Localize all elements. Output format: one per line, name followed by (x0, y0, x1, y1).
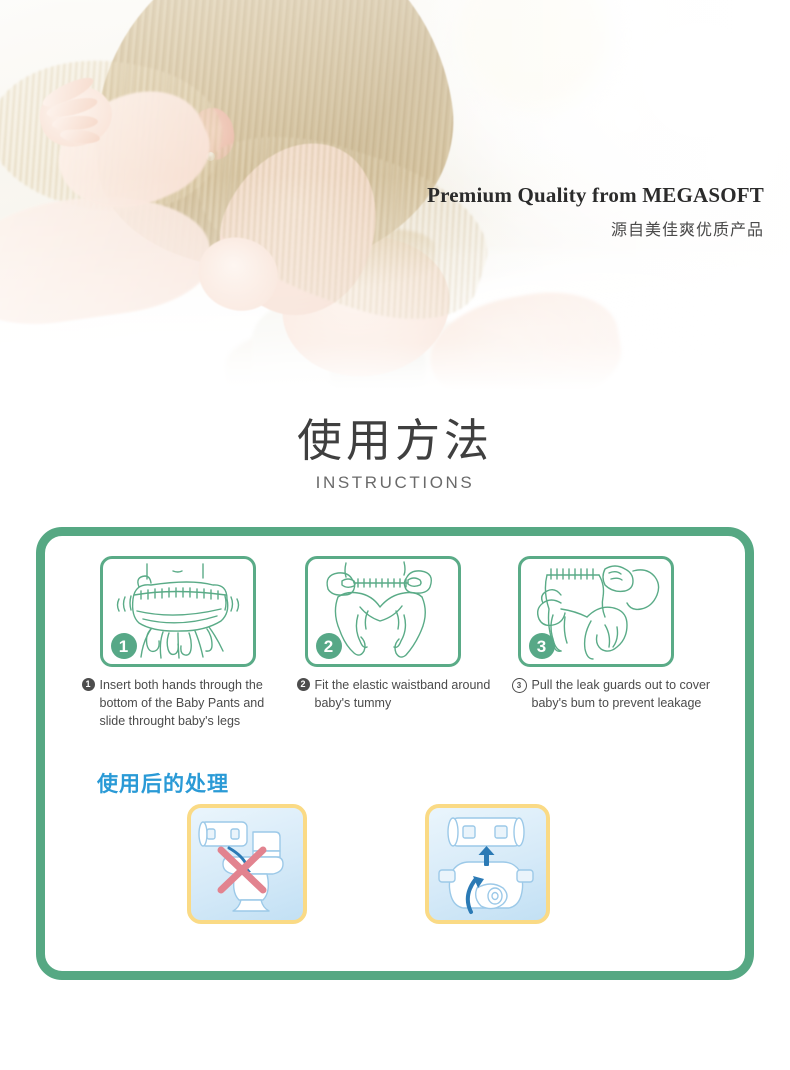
step-item: 2 2 Fit the elastic waistband around bab… (293, 556, 498, 730)
section-title-chinese: 使用方法 (0, 418, 790, 463)
step-text: Pull the leak guards out to cover baby's… (532, 676, 713, 712)
step-badge: 1 (111, 633, 137, 659)
step-item: 1 1 Insert both hands through the bottom… (78, 556, 283, 730)
disposal-row (45, 804, 745, 924)
step-description: 2 Fit the elastic waistband around baby'… (293, 676, 498, 712)
step-description: 1 Insert both hands through the bottom o… (78, 676, 283, 730)
step-text: Fit the elastic waistband around baby's … (315, 676, 498, 712)
step-bullet: 2 (297, 678, 310, 691)
step-bullet: 3 (512, 678, 527, 693)
section-title: 使用方法 INSTRUCTIONS (0, 418, 790, 493)
disposal-title: 使用后的处理 (97, 768, 229, 798)
hands-through-baby-pants-illustration: 1 (100, 556, 256, 667)
instructions-panel: 1 1 Insert both hands through the bottom… (36, 527, 754, 980)
tagline: Premium Quality from MEGASOFT 源自美佳爽优质产品 (427, 183, 764, 240)
do-not-flush-in-toilet-illustration (187, 804, 307, 924)
bokeh-orb (600, 92, 656, 148)
fit-elastic-waistband-illustration: 2 (305, 556, 461, 667)
tagline-english: Premium Quality from MEGASOFT (427, 183, 764, 208)
steps-row: 1 1 Insert both hands through the bottom… (45, 556, 745, 730)
roll-up-and-secure-diaper-illustration (425, 804, 550, 924)
step-description: 3 Pull the leak guards out to cover baby… (508, 676, 713, 712)
section-title-english: INSTRUCTIONS (0, 473, 790, 493)
tagline-chinese: 源自美佳爽优质产品 (427, 216, 764, 240)
step-text: Insert both hands through the bottom of … (100, 676, 283, 730)
step-badge: 3 (529, 633, 555, 659)
step-bullet: 1 (82, 678, 95, 691)
hero-banner: Premium Quality from MEGASOFT 源自美佳爽优质产品 (0, 0, 790, 390)
step-item: 3 3 Pull the leak guards out to cover ba… (508, 556, 713, 730)
step-badge: 2 (316, 633, 342, 659)
pull-leak-guards-illustration: 3 (518, 556, 674, 667)
